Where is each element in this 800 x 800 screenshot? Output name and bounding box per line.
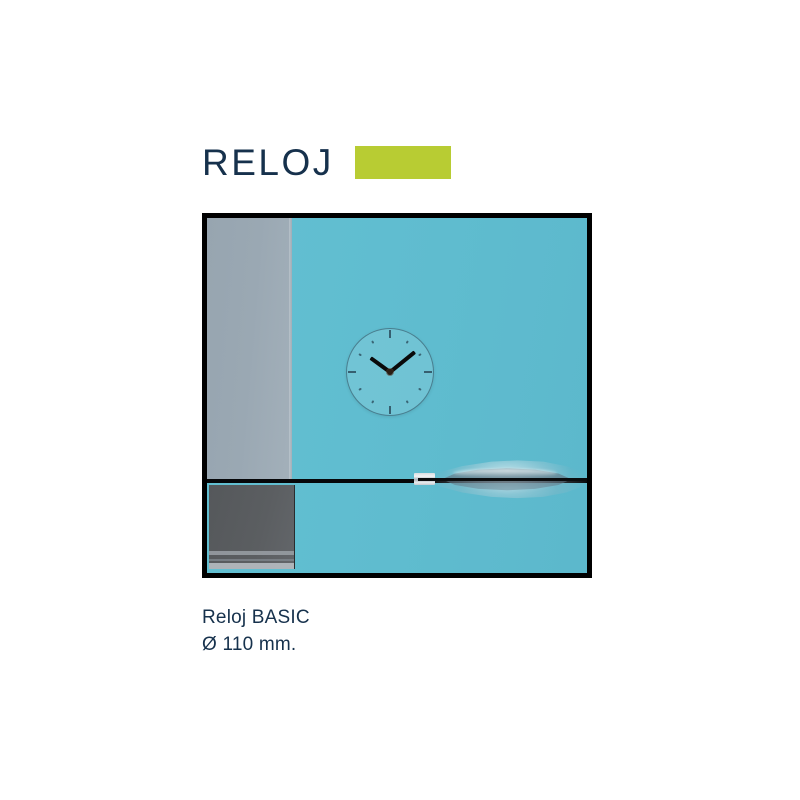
wall-clock	[346, 328, 434, 416]
product-dimensions: Ø 110 mm.	[202, 631, 542, 658]
product-photo	[207, 218, 587, 573]
product-name: Reloj BASIC	[202, 604, 542, 631]
product-caption: Reloj BASIC Ø 110 mm.	[202, 604, 542, 658]
wall-grey-panel	[207, 218, 292, 479]
page-title: RELOJ	[202, 144, 334, 181]
dark-grey-box	[209, 485, 295, 569]
clock-minute-hand	[389, 351, 416, 374]
page-root: RELOJ	[0, 0, 800, 800]
clock-center-cap	[387, 369, 393, 375]
dark-box-band-upper	[209, 551, 294, 555]
dark-box-band-middle	[209, 559, 294, 562]
accent-swatch	[355, 146, 451, 179]
page-header: RELOJ	[202, 136, 602, 188]
product-photo-frame	[202, 213, 592, 578]
dark-box-band-lower	[209, 563, 294, 569]
lens-center-bar	[418, 478, 587, 481]
